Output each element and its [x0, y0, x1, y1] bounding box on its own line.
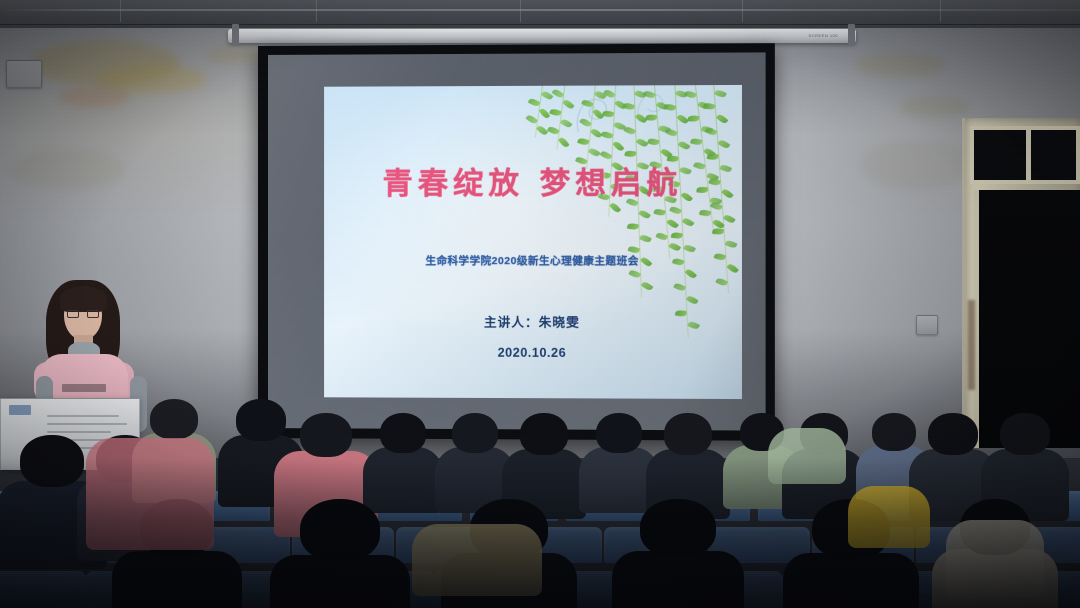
ceiling-seam [0, 9, 1080, 11]
slide-speaker: 主讲人：朱晓雯 [324, 311, 742, 331]
person-head [236, 399, 286, 441]
person-head [150, 399, 198, 439]
willow-leaf [647, 138, 659, 146]
willow-leaf [723, 213, 736, 224]
roller-bracket-left [232, 24, 239, 46]
person-head [596, 413, 642, 453]
projection-screen-roller: SCREEN 100 [228, 29, 856, 43]
willow-branch-decoration [324, 85, 742, 87]
door-jamb-stain [968, 300, 975, 390]
person-body [612, 551, 744, 608]
willow-branch [535, 86, 544, 138]
auditorium-seat [0, 571, 86, 608]
presenter-shirt-print [62, 384, 106, 392]
willow-leaf [686, 294, 698, 305]
roller-bracket-right [848, 24, 855, 46]
audience-person-yellow-hoodie [848, 486, 930, 548]
person-body [363, 447, 443, 513]
audience-person-mint-jacket [768, 428, 846, 484]
willow-leaf [678, 140, 690, 151]
person-body [270, 555, 410, 608]
willow-leaf [669, 242, 682, 253]
audience [0, 395, 1080, 608]
willow-leaf [577, 137, 589, 146]
willow-branch [674, 85, 689, 338]
willow-leaf [627, 223, 639, 230]
person-head [452, 413, 498, 453]
person-head [520, 413, 568, 455]
slide-subtitle: 生命科学学院2020级新生心理健康主题班会 [324, 253, 742, 268]
audience-person-cream-sweater [946, 520, 1044, 598]
audience-person-pink-panda-hoodie [86, 438, 214, 550]
willow-leaf [718, 138, 731, 149]
willow-leaf [725, 239, 738, 249]
ceiling-tile-line [316, 0, 317, 22]
person-head [664, 413, 712, 455]
person-head [872, 413, 916, 451]
willow-leaf [613, 140, 625, 152]
willow-leaf [671, 232, 683, 239]
ceiling-seam-lower [0, 24, 1080, 25]
ceiling-tile-line [520, 0, 521, 22]
person-head [300, 499, 380, 561]
willow-leaf [683, 243, 696, 253]
willow-leaf [685, 268, 697, 280]
slide-date: 2020.10.26 [324, 345, 742, 360]
willow-leaf [639, 233, 652, 243]
willow-leaf [560, 118, 572, 129]
person-head [300, 413, 352, 457]
projection-screen: 青春绽放 梦想启航 生命科学学院2020级新生心理健康主题班会 主讲人：朱晓雯 … [258, 43, 775, 441]
willow-leaf [687, 115, 699, 121]
ceiling-tile-line [940, 0, 941, 22]
willow-leaf [714, 89, 727, 99]
door-transom-window [970, 126, 1080, 184]
willow-leaf [639, 209, 651, 220]
willow-leaf [690, 138, 702, 146]
willow-leaf [610, 201, 622, 213]
person-body [783, 553, 919, 608]
ceiling-tile-line [742, 0, 743, 22]
person-head [1000, 413, 1050, 455]
willow-branch [556, 86, 566, 150]
transom-mullion [1026, 130, 1031, 180]
willow-leaf [705, 127, 718, 137]
person-body [112, 551, 242, 608]
willow-leaf [716, 113, 728, 125]
person-head [928, 413, 978, 455]
slide-title: 青春绽放 梦想启航 [324, 158, 742, 203]
willow-leaf [667, 218, 679, 229]
lecture-hall-photo: SCREEN 100 青春绽放 梦想启航 生命科学学院2020级新生心理健康主题… [0, 0, 1080, 608]
willow-leaf [653, 208, 665, 216]
person-head [20, 435, 84, 487]
presentation-slide: 青春绽放 梦想启航 生命科学学院2020级新生心理健康主题班会 主讲人：朱晓雯 … [324, 85, 742, 399]
willow-leaf [665, 128, 678, 138]
willow-leaf [703, 103, 715, 112]
willow-leaf [673, 282, 686, 292]
willow-leaf [588, 147, 600, 158]
ceiling-tile-line [120, 0, 121, 22]
willow-leaf [699, 210, 711, 218]
willow-leaf [641, 281, 653, 292]
ceiling [0, 0, 1080, 30]
willow-leaf [628, 269, 641, 279]
audience-person-khaki-jacket [412, 524, 542, 596]
willow-leaf [669, 205, 682, 215]
willow-leaf [624, 151, 636, 158]
willow-leaf [558, 136, 569, 148]
willow-leaf [682, 217, 694, 228]
eyeglasses-icon [67, 310, 99, 318]
person-head [380, 413, 426, 453]
person-head [640, 499, 716, 557]
willow-leaf [636, 137, 648, 148]
roller-brand-label: SCREEN 100 [809, 33, 838, 38]
presenter-fringe [60, 286, 107, 312]
screen-surface: 青春绽放 梦想启航 生命科学学院2020级新生心理健康主题班会 主讲人：朱晓雯 … [268, 52, 766, 430]
